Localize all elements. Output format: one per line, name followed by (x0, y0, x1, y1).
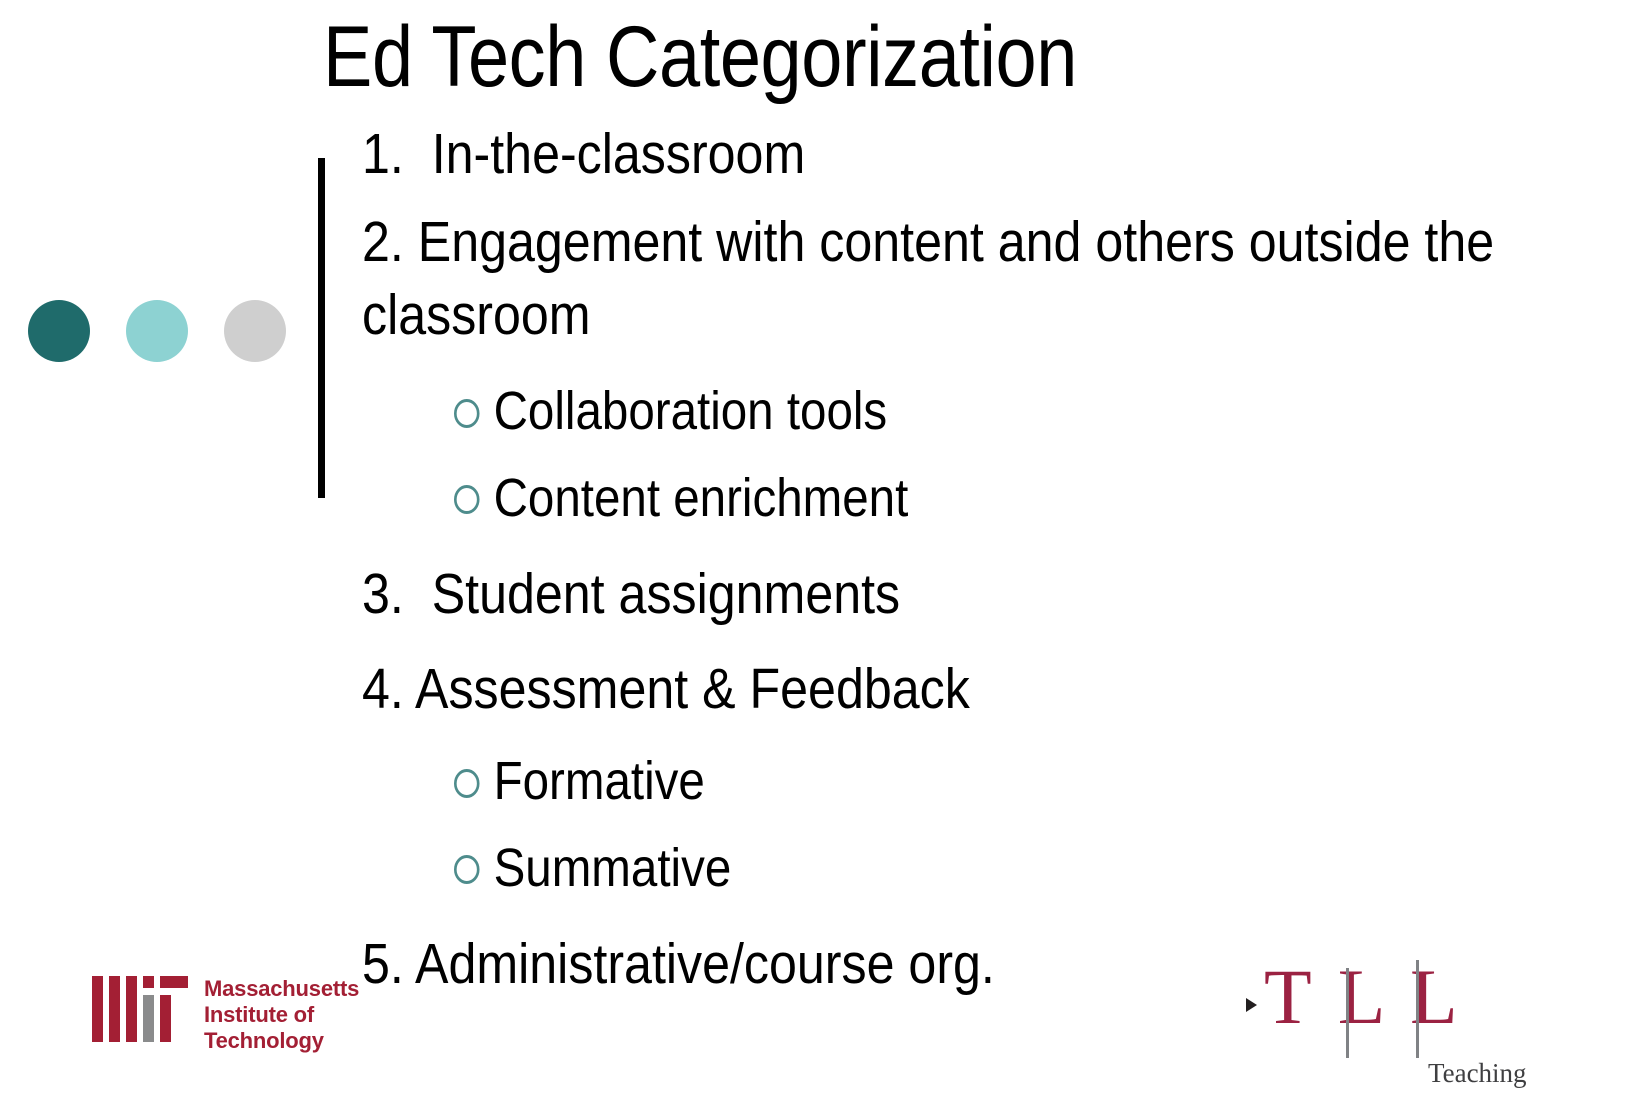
tll-subtitle: Teaching (1428, 1058, 1527, 1089)
mit-wordmark-line-1: Massachusetts (204, 976, 359, 1002)
list-item-4b: Summative (454, 834, 1429, 903)
open-circle-bullet-icon (454, 855, 480, 884)
dot-light-aqua-icon (126, 300, 188, 362)
dot-light-gray-icon (224, 300, 286, 362)
list-item-2a: Collaboration tools (454, 377, 1429, 446)
list-item-4: 4. Assessment & Feedback (362, 653, 1418, 725)
open-circle-bullet-icon (454, 769, 480, 798)
tll-separator-2 (1416, 960, 1419, 1058)
list-item-2b: Content enrichment (454, 464, 1429, 533)
tll-triangle-icon (1246, 998, 1257, 1012)
list-item-4b-label: Summative (494, 834, 732, 903)
list-item-2b-label: Content enrichment (494, 464, 909, 533)
tll-logo: T L L Teaching (1238, 958, 1568, 1096)
list-item-4a: Formative (454, 747, 1429, 816)
mit-logo-mark-icon (92, 976, 188, 1042)
mit-logo: Massachusetts Institute of Technology (92, 976, 359, 1054)
vertical-accent-rule (318, 158, 325, 498)
decorative-dots (28, 300, 286, 362)
list-item-1: 1. In-the-classroom (362, 118, 1418, 190)
dot-dark-teal-icon (28, 300, 90, 362)
list-item-2a-label: Collaboration tools (494, 377, 888, 446)
slide-canvas: Ed Tech Categorization 1. In-the-classro… (0, 0, 1649, 1096)
list-item-3: 3. Student assignments (362, 558, 1418, 630)
page-title: Ed Tech Categorization (98, 14, 1302, 100)
tll-letters: T L L (1264, 958, 1462, 1036)
list-item-2: 2. Engagement with content and others ou… (362, 206, 1532, 351)
list-item-4a-label: Formative (494, 747, 705, 816)
content-list: 1. In-the-classroom 2. Engagement with c… (362, 118, 1562, 1017)
tll-separator-1 (1346, 968, 1349, 1058)
mit-wordmark-line-2: Institute of (204, 1002, 359, 1028)
mit-wordmark: Massachusetts Institute of Technology (204, 976, 359, 1054)
open-circle-bullet-icon (454, 485, 480, 514)
mit-wordmark-line-3: Technology (204, 1028, 359, 1054)
open-circle-bullet-icon (454, 399, 480, 428)
